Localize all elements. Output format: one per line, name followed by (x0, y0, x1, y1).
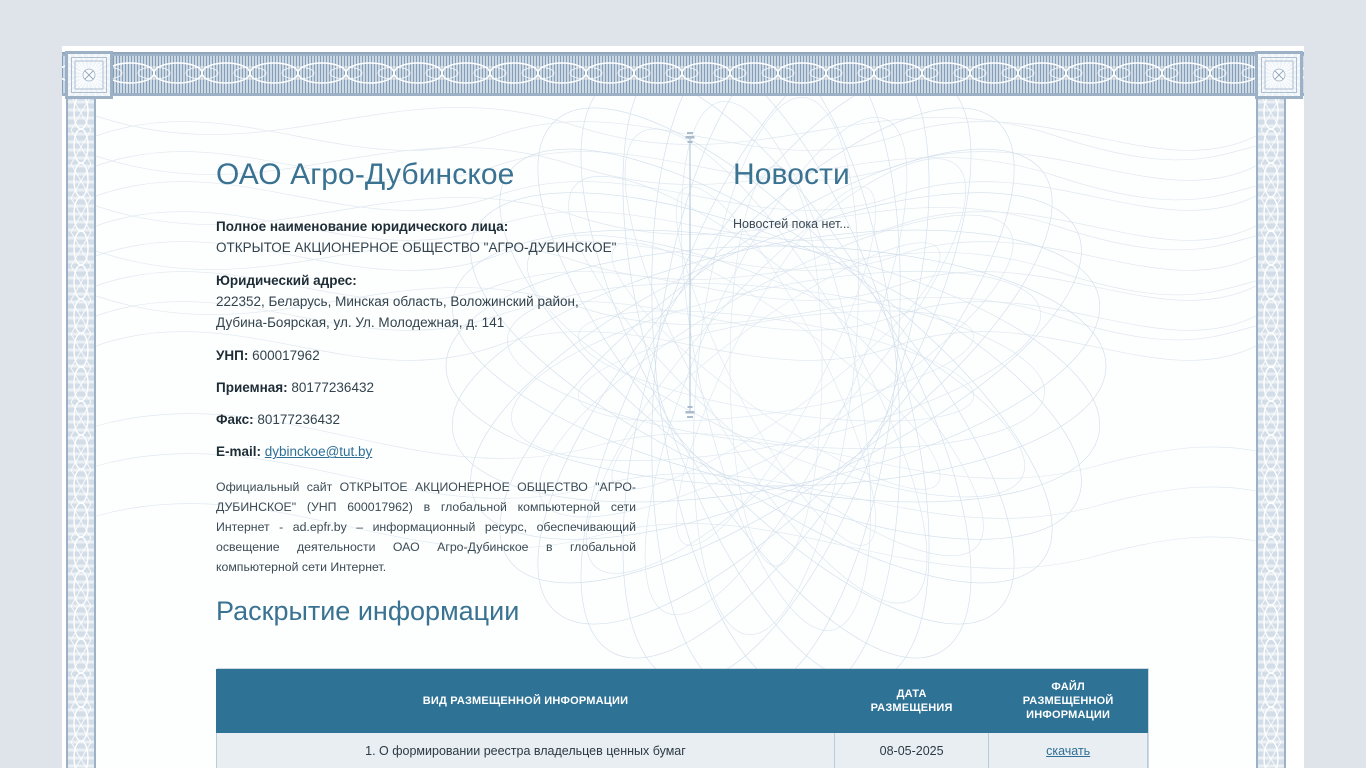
disclosure-table-body: 1. О формировании реестра владельцев цен… (217, 733, 1148, 768)
reception-label: Приемная: (216, 380, 288, 395)
disclosure-table: ВИД РАЗМЕЩЕННОЙ ИНФОРМАЦИИ ДАТА РАЗМЕЩЕН… (216, 669, 1148, 768)
email-label: E-mail: (216, 444, 261, 459)
unp-label: УНП: (216, 348, 248, 363)
reception-value: 80177236432 (291, 380, 374, 395)
top-guilloche-band (62, 52, 1304, 96)
download-link[interactable]: скачать (1046, 744, 1090, 758)
column-header-file-line-2: РАЗМЕЩЕННОЙ (1023, 695, 1114, 707)
page-content: ОАО Агро-Дубинское Полное наименование ю… (96, 96, 1256, 768)
page-title: ОАО Агро-Дубинское (216, 158, 636, 191)
column-header-file: ФАЙЛ РАЗМЕЩЕННОЙ ИНФОРМАЦИИ (989, 670, 1148, 733)
about-text: Официальный сайт ОТКРЫТОЕ АКЦИОНЕРНОЕ ОБ… (216, 477, 636, 577)
right-strip-pattern (1258, 96, 1284, 768)
full-name-label: Полное наименование юридического лица: (216, 217, 636, 238)
legal-address-value: 222352, Беларусь, Минская область, Волож… (216, 292, 636, 334)
column-header-date: ДАТА РАЗМЕЩЕНИЯ (834, 670, 988, 733)
rosette-starburst-icon (1258, 54, 1300, 96)
reception-field: Приемная: 80177236432 (216, 378, 636, 398)
legal-address-label: Юридический адрес: (216, 271, 636, 292)
chain-pattern (62, 54, 1304, 93)
fax-label: Факс: (216, 412, 254, 427)
corner-rosette-top-left (65, 51, 113, 99)
legal-address-line-1: 222352, Беларусь, Минская область, Волож… (216, 294, 579, 309)
full-name-value: ОТКРЫТОЕ АКЦИОНЕРНОЕ ОБЩЕСТВО "АГРО-ДУБИ… (216, 238, 636, 259)
column-header-date-line-1: ДАТА (897, 688, 927, 700)
legal-address-line-2: Дубина-Боярская, ул. Ул. Молодежная, д. … (216, 315, 504, 330)
disclosure-section-title: Раскрытие информации (216, 596, 519, 627)
cell-kind: 1. О формировании реестра владельцев цен… (217, 733, 835, 768)
column-header-date-line-2: РАЗМЕЩЕНИЯ (871, 702, 953, 714)
disclosure-table-head: ВИД РАЗМЕЩЕННОЙ ИНФОРМАЦИИ ДАТА РАЗМЕЩЕН… (217, 670, 1148, 733)
unp-value: 600017962 (252, 348, 320, 363)
table-row: 1. О формировании реестра владельцев цен… (217, 733, 1148, 768)
news-column: Новости Новостей пока нет... (733, 158, 1153, 231)
news-empty-message: Новостей пока нет... (733, 217, 1153, 231)
cell-date: 08-05-2025 (834, 733, 988, 768)
column-header-kind: ВИД РАЗМЕЩЕННОЙ ИНФОРМАЦИИ (217, 670, 835, 733)
disclosure-header-row: ВИД РАЗМЕЩЕННОЙ ИНФОРМАЦИИ ДАТА РАЗМЕЩЕН… (217, 670, 1148, 733)
news-title: Новости (733, 158, 1153, 191)
corner-rosette-top-right (1255, 51, 1303, 99)
page-root: ОАО Агро-Дубинское Полное наименование ю… (0, 0, 1366, 768)
email-link[interactable]: dybinckoe@tut.by (265, 444, 373, 459)
rosette-starburst-icon (68, 54, 110, 96)
left-guilloche-strip (66, 96, 96, 768)
right-guilloche-strip (1256, 96, 1286, 768)
unp-field: УНП: 600017962 (216, 346, 636, 366)
email-field: E-mail: dybinckoe@tut.by (216, 442, 636, 462)
cell-file: скачать (989, 733, 1148, 768)
company-info-column: ОАО Агро-Дубинское Полное наименование ю… (216, 158, 636, 589)
column-header-file-line-3: ИНФОРМАЦИИ (1026, 709, 1110, 721)
ornamental-divider (683, 130, 697, 420)
document-sheet: ОАО Агро-Дубинское Полное наименование ю… (96, 96, 1256, 768)
column-header-file-line-1: ФАЙЛ (1051, 681, 1084, 693)
left-strip-pattern (68, 96, 94, 768)
fax-value: 80177236432 (257, 412, 340, 427)
fax-field: Факс: 80177236432 (216, 410, 636, 430)
